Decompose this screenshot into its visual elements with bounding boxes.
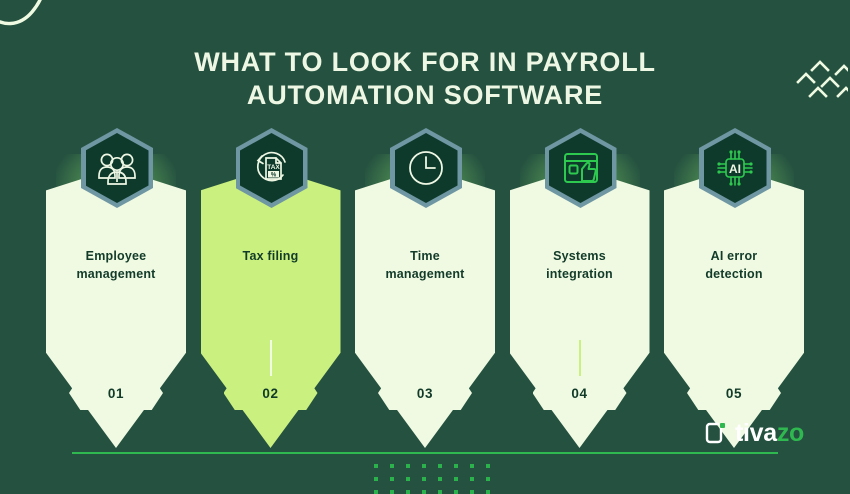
curved-line-decoration-icon — [0, 0, 74, 48]
brand-name-accent: zo — [777, 419, 804, 447]
page-title-line-1: WHAT TO LOOK FOR IN PAYROLL — [0, 46, 850, 79]
badge-connector — [270, 340, 272, 378]
badge-connector — [115, 340, 117, 378]
step-badge-03[interactable]: 03 — [378, 376, 472, 410]
icon-hexagon-inner: TAX % — [240, 133, 303, 203]
card-label-line-2: management — [361, 266, 489, 284]
tax-document-refresh-icon: TAX % — [252, 150, 292, 186]
step-number-row: 01 02 03 04 05 — [46, 340, 804, 420]
page-title: WHAT TO LOOK FOR IN PAYROLL AUTOMATION S… — [0, 46, 850, 112]
card-label-line-2: management — [52, 266, 180, 284]
badge-connector — [733, 340, 735, 378]
badge-connector — [424, 340, 426, 378]
step-badge-wrap-03: 03 — [355, 340, 495, 420]
icon-hexagon-inner — [549, 133, 612, 203]
window-thumbsup-icon — [562, 151, 600, 185]
step-badge-04[interactable]: 04 — [533, 376, 627, 410]
icon-hexagon-inner — [86, 133, 149, 203]
card-label-line-1: AI error — [670, 248, 798, 266]
icon-hexagon-inner: AI — [704, 133, 767, 203]
card-label: Tax filing — [207, 248, 335, 266]
people-group-icon — [97, 151, 137, 185]
step-badge-wrap-01: 01 — [46, 340, 186, 420]
step-badge-05[interactable]: 05 — [687, 376, 781, 410]
card-label: Systems integration — [516, 248, 644, 284]
card-label: Employee management — [52, 248, 180, 284]
brand-logo-text: tivazo — [735, 421, 804, 446]
infographic-canvas: WHAT TO LOOK FOR IN PAYROLL AUTOMATION S… — [0, 0, 850, 494]
bracket-square-icon — [701, 420, 727, 446]
dot-grid-decoration — [374, 464, 490, 494]
card-label: AI error detection — [670, 248, 798, 284]
step-badge-wrap-02: 02 — [201, 340, 341, 420]
step-badge-01[interactable]: 01 — [69, 376, 163, 410]
card-label-line-1: Systems — [516, 248, 644, 266]
horizontal-rule-divider — [72, 452, 778, 454]
step-badge-wrap-04: 04 — [510, 340, 650, 420]
svg-text:TAX: TAX — [267, 164, 280, 171]
card-label: Time management — [361, 248, 489, 284]
brand-logo[interactable]: tivazo — [701, 420, 804, 446]
icon-hexagon-inner — [395, 133, 458, 203]
step-badge-wrap-05: 05 — [664, 340, 804, 420]
card-label-line-2: detection — [670, 266, 798, 284]
card-label-line-1: Employee — [52, 248, 180, 266]
badge-connector — [579, 340, 581, 378]
card-label-line-1: Tax filing — [207, 248, 335, 266]
svg-text:AI: AI — [729, 162, 741, 176]
page-title-line-2: AUTOMATION SOFTWARE — [0, 79, 850, 112]
svg-text:%: % — [270, 173, 276, 179]
brand-name-primary: tiva — [735, 419, 777, 447]
card-label-line-2: integration — [516, 266, 644, 284]
step-badge-02[interactable]: 02 — [224, 376, 318, 410]
card-label-line-1: Time — [361, 248, 489, 266]
ai-chip-icon: AI — [714, 147, 756, 189]
clock-icon — [406, 148, 446, 188]
